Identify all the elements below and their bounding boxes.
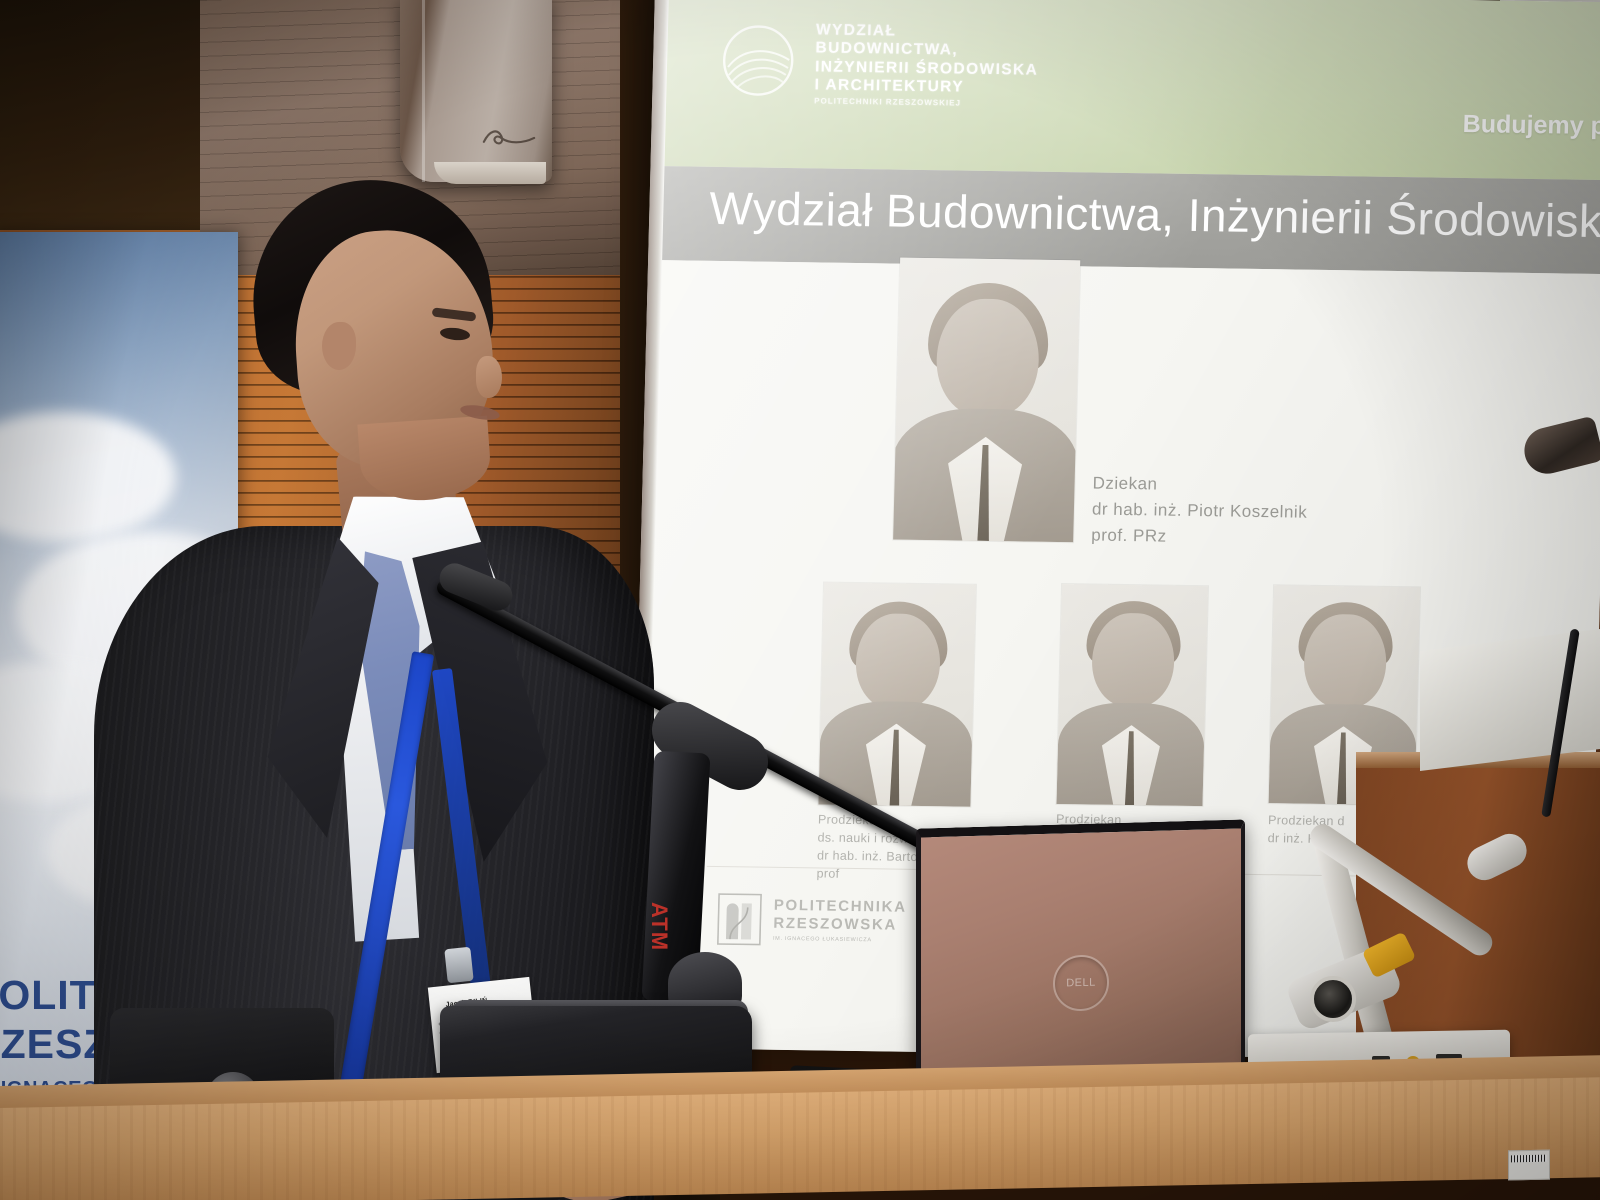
- dean-caption: Dziekan dr hab. inż. Piotr Koszelnik pro…: [1091, 471, 1308, 552]
- dell-laptop-lid: DELL: [916, 819, 1245, 1095]
- header-subline: POLITECHNIKI RZESZOWSKIEJ: [814, 96, 1037, 109]
- pr-logo-line-3: IM. IGNACEGO ŁUKASIEWICZA: [773, 936, 906, 945]
- lanyard-clip: [444, 947, 473, 984]
- slide-title: Wydział Budownictwa, Inżynierii Środowis…: [709, 181, 1600, 250]
- pr-logo-text: POLITECHNIKA RZESZOWSKA IM. IGNACEGO ŁUK…: [773, 897, 907, 945]
- wall-speaker: [400, 0, 552, 182]
- vice-dean-portrait-1: [818, 583, 976, 807]
- visualizer-lens: [1310, 976, 1356, 1022]
- pr-logo-mark: [717, 893, 762, 946]
- dean-role: Dziekan: [1092, 471, 1308, 500]
- slide-header-text: WYDZIAŁ BUDOWNICTWA, INŻYNIERII ŚRODOWIS…: [814, 21, 1039, 109]
- dean-name: dr hab. inż. Piotr Koszelnik: [1092, 496, 1308, 525]
- pr-logo-line-1: POLITECHNIKA: [774, 897, 907, 917]
- dell-logo: DELL: [1053, 954, 1109, 1012]
- speaker-brand-logo: [480, 124, 538, 150]
- header-line-4: I ARCHITEKTURY: [814, 76, 1038, 98]
- microphone-stem-label: ATM: [646, 902, 672, 951]
- wbisia-faculty-logo: [720, 23, 796, 98]
- politechnika-rzeszowska-logo: POLITECHNIKA RZESZOWSKA IM. IGNACEGO ŁUK…: [717, 893, 907, 948]
- vice-dean-portrait-2: [1056, 584, 1208, 806]
- slide-tagline: Budujemy p: [1462, 110, 1600, 141]
- inventory-sticker: [1508, 1150, 1550, 1181]
- dean-rank: prof. PRz: [1091, 522, 1307, 551]
- slide-header-band: WYDZIAŁ BUDOWNICTWA, INŻYNIERII ŚRODOWIS…: [664, 0, 1600, 180]
- vice-dean-1-name: dr hab. inż. Bartos: [817, 847, 926, 867]
- dean-portrait: [893, 258, 1080, 543]
- slide-title-band: Wydział Budownictwa, Inżynierii Środowis…: [662, 166, 1600, 274]
- lecture-hall-photo: POLITECH RZESZOW m. IGNACEGO Ł WYDZIAŁ B…: [0, 0, 1600, 1200]
- pr-logo-line-2: RZESZOWSKA: [773, 915, 906, 935]
- nose: [476, 356, 502, 398]
- lectern: [1356, 760, 1600, 1060]
- vice-dean-3-role: Prodziekan d: [1268, 811, 1345, 830]
- ear: [322, 322, 356, 370]
